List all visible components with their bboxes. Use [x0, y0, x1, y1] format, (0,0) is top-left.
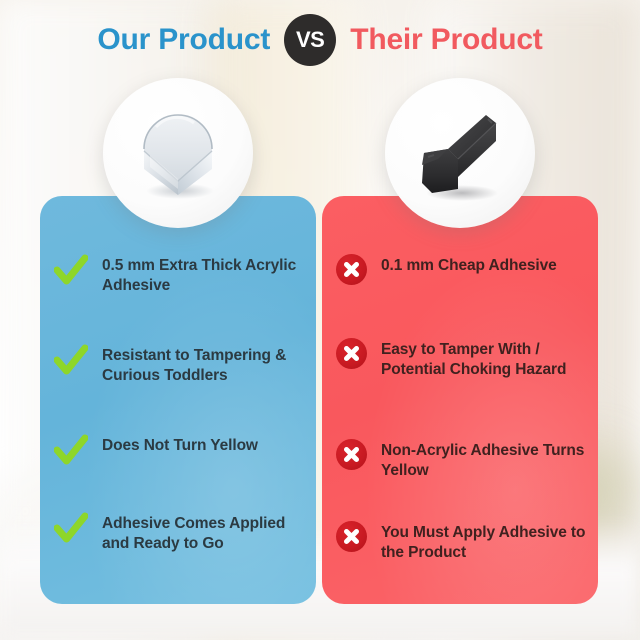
list-item: 0.1 mm Cheap Adhesive — [336, 254, 598, 285]
list-item-label: 0.1 mm Cheap Adhesive — [381, 254, 557, 276]
list-item: Resistant to Tampering & Curious Toddler… — [54, 344, 316, 386]
their-product-title: Their Product — [350, 25, 542, 55]
clear-acrylic-corner-guard-icon — [124, 99, 232, 207]
our-product-title: Our Product — [97, 25, 270, 55]
list-item: Does Not Turn Yellow — [54, 434, 316, 468]
list-item: Adhesive Comes Applied and Ready to Go — [54, 512, 316, 554]
list-item: Easy to Tamper With / Potential Choking … — [336, 338, 598, 380]
x-circle-icon — [336, 254, 367, 285]
list-item-label: Easy to Tamper With / Potential Choking … — [381, 338, 588, 380]
list-item-label: Non-Acrylic Adhesive Turns Yellow — [381, 439, 588, 481]
x-circle-icon — [336, 439, 367, 470]
x-mark-icon — [343, 528, 360, 545]
x-mark-icon — [343, 446, 360, 463]
comparison-infographic: Our Product VS Their Product 0.5 mm Extr… — [0, 0, 640, 640]
list-item-label: You Must Apply Adhesive to the Product — [381, 521, 588, 563]
list-item-label: Adhesive Comes Applied and Ready to Go — [102, 512, 306, 554]
black-foam-corner-guard-icon — [404, 97, 516, 209]
our-product-panel: 0.5 mm Extra Thick Acrylic Adhesive Resi… — [40, 196, 316, 604]
list-item: You Must Apply Adhesive to the Product — [336, 521, 598, 563]
check-icon — [54, 254, 88, 288]
check-icon — [54, 344, 88, 378]
their-product-list: 0.1 mm Cheap Adhesive Easy to Tamper Wit… — [322, 196, 598, 604]
list-item: 0.5 mm Extra Thick Acrylic Adhesive — [54, 254, 316, 296]
our-product-list: 0.5 mm Extra Thick Acrylic Adhesive Resi… — [40, 196, 316, 604]
x-mark-icon — [343, 261, 360, 278]
their-product-panel: 0.1 mm Cheap Adhesive Easy to Tamper Wit… — [322, 196, 598, 604]
list-item-label: 0.5 mm Extra Thick Acrylic Adhesive — [102, 254, 306, 296]
check-icon — [54, 512, 88, 546]
their-product-image — [385, 78, 535, 228]
our-product-image — [103, 78, 253, 228]
x-circle-icon — [336, 521, 367, 552]
comparison-header: Our Product VS Their Product — [0, 14, 640, 66]
x-circle-icon — [336, 338, 367, 369]
list-item-label: Does Not Turn Yellow — [102, 434, 258, 456]
list-item-label: Resistant to Tampering & Curious Toddler… — [102, 344, 306, 386]
vs-badge: VS — [284, 14, 336, 66]
check-icon — [54, 434, 88, 468]
x-mark-icon — [343, 345, 360, 362]
vs-badge-label: VS — [296, 29, 324, 51]
list-item: Non-Acrylic Adhesive Turns Yellow — [336, 439, 598, 481]
